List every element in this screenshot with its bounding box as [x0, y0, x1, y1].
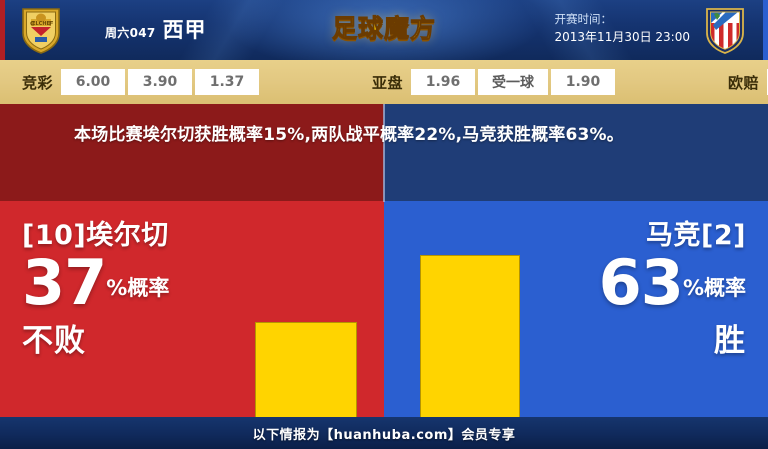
odds-cell[interactable]: 1.90	[551, 69, 615, 95]
home-percent-row: 37 %概率	[22, 254, 169, 311]
header-bar: ELCHE C F 周六047 西甲 足球魔方 开赛时间： 2013年11月30…	[0, 0, 768, 60]
match-round: 周六047	[105, 24, 156, 41]
home-percent-unit: %概率	[106, 272, 169, 311]
odds-group-label: 竞彩	[22, 72, 53, 93]
home-team-stats: [10]埃尔切 37 %概率 不败	[22, 222, 169, 360]
odds-cell-handicap[interactable]: 受一球	[478, 69, 548, 95]
home-probability-bar	[255, 322, 357, 417]
probability-panel: 本场比赛埃尔切获胜概率15%,两队战平概率22%,马竞获胜概率63%。 [10]…	[0, 104, 768, 417]
odds-cell[interactable]: 1.96	[411, 69, 475, 95]
panel-divider	[383, 104, 385, 202]
kickoff-value: 2013年11月30日 23:00	[555, 28, 690, 46]
away-outcome-label: 胜	[599, 315, 746, 360]
kickoff-time: 开赛时间： 2013年11月30日 23:00	[555, 11, 690, 46]
odds-group-oupei: 欧赔 6.60 3.90 1.51	[728, 69, 768, 95]
match-league: 西甲	[163, 14, 207, 44]
odds-group-label: 亚盘	[372, 72, 403, 93]
atletico-madrid-crest-icon	[702, 6, 748, 54]
odds-cell[interactable]: 1.37	[195, 69, 259, 95]
away-percent-value: 63	[599, 254, 683, 311]
away-team-stats: 马竞[2] 63 %概率 胜	[599, 222, 746, 360]
away-percent-unit: %概率	[683, 272, 746, 311]
odds-group-label: 欧赔	[728, 72, 759, 93]
header-right-accent	[763, 0, 768, 60]
headline-summary: 本场比赛埃尔切获胜概率15%,两队战平概率22%,马竞获胜概率63%。	[74, 122, 694, 148]
match-probability-infographic: ELCHE C F 周六047 西甲 足球魔方 开赛时间： 2013年11月30…	[0, 0, 768, 449]
home-outcome-label: 不败	[22, 315, 169, 360]
footer-bar: 以下情报为【huanhuba.com】会员专享	[0, 417, 768, 449]
header-left-accent	[0, 0, 5, 60]
svg-text:C: C	[30, 20, 35, 28]
home-percent-value: 37	[22, 254, 106, 311]
site-brand-logo: 足球魔方	[332, 9, 436, 45]
odds-group-yapan: 亚盘 1.96 受一球 1.90	[372, 69, 618, 95]
match-label: 周六047 西甲	[105, 14, 207, 44]
svg-text:ELCHE: ELCHE	[32, 21, 50, 27]
away-percent-row: 63 %概率	[599, 254, 746, 311]
away-probability-bar	[420, 255, 520, 417]
svg-text:F: F	[49, 20, 53, 28]
odds-cell[interactable]: 6.00	[61, 69, 125, 95]
odds-cell[interactable]: 3.90	[128, 69, 192, 95]
footer-notice: 以下情报为【huanhuba.com】会员专享	[253, 424, 516, 443]
elche-cf-crest-icon: ELCHE C F	[18, 6, 64, 54]
odds-group-jingcai: 竞彩 6.00 3.90 1.37	[22, 69, 262, 95]
kickoff-label: 开赛时间：	[555, 11, 690, 28]
odds-bar: 竞彩 6.00 3.90 1.37 亚盘 1.96 受一球 1.90 欧赔 6.…	[0, 60, 768, 104]
